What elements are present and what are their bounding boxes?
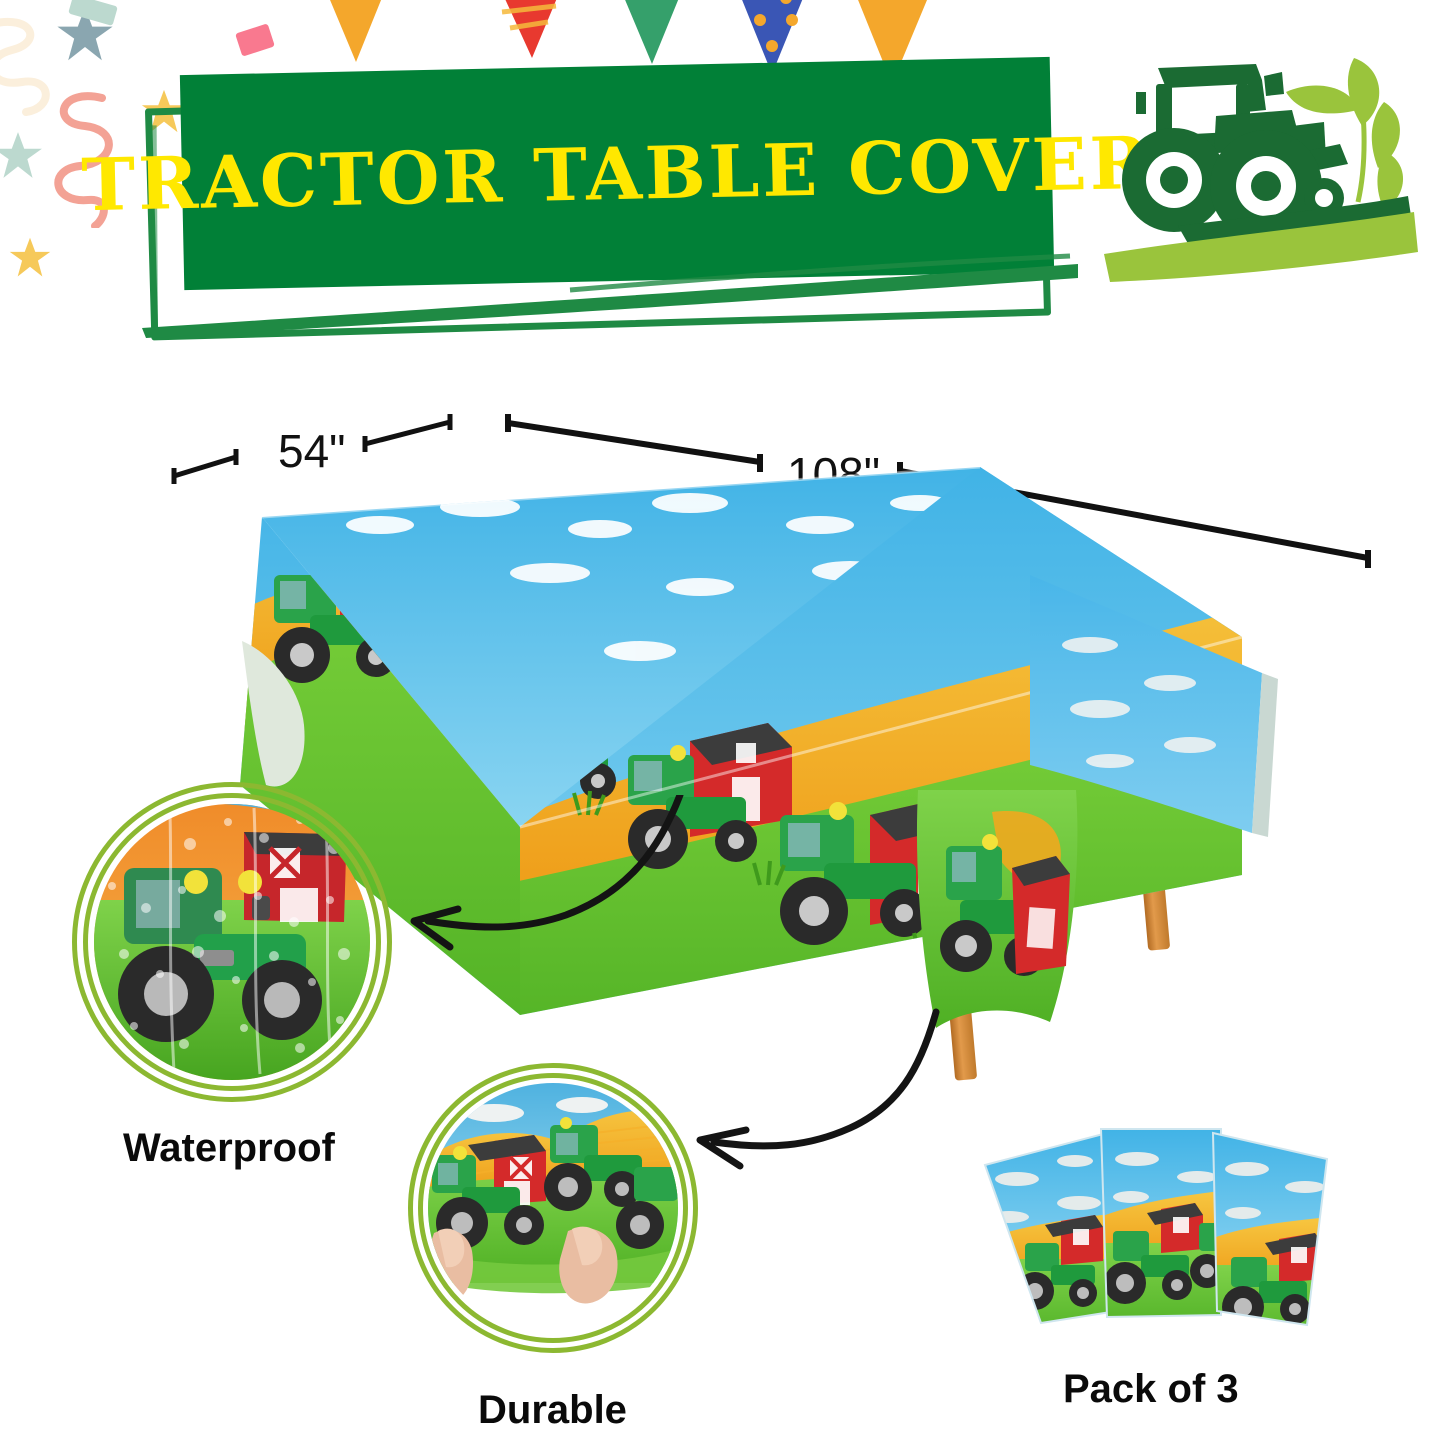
tractor-farm-logo (1096, 40, 1426, 290)
feature-circle-waterproof (72, 782, 392, 1102)
bunting-flag (610, 0, 692, 64)
bunting-flag (490, 0, 572, 58)
waterproof-scene (94, 804, 370, 1080)
pack-of-three-group (955, 1125, 1355, 1355)
feature-label-pack-of-3: Pack of 3 (1063, 1367, 1239, 1412)
streamer-icon (0, 12, 92, 142)
feature-label-waterproof: Waterproof (123, 1126, 335, 1171)
star-icon (8, 236, 52, 280)
confetti-chip (235, 23, 275, 56)
bunting-flag (320, 0, 394, 62)
feature-circle-durable (408, 1063, 698, 1353)
durable-scene (428, 1083, 678, 1333)
barn (1012, 856, 1070, 974)
banner-swoosh (140, 250, 1080, 340)
infographic-canvas: TRACTOR TABLE COVER (0, 0, 1445, 1445)
arrow-to-waterproof (380, 795, 710, 975)
tractor (973, 1257, 1009, 1315)
feature-label-durable: Durable (478, 1388, 627, 1433)
